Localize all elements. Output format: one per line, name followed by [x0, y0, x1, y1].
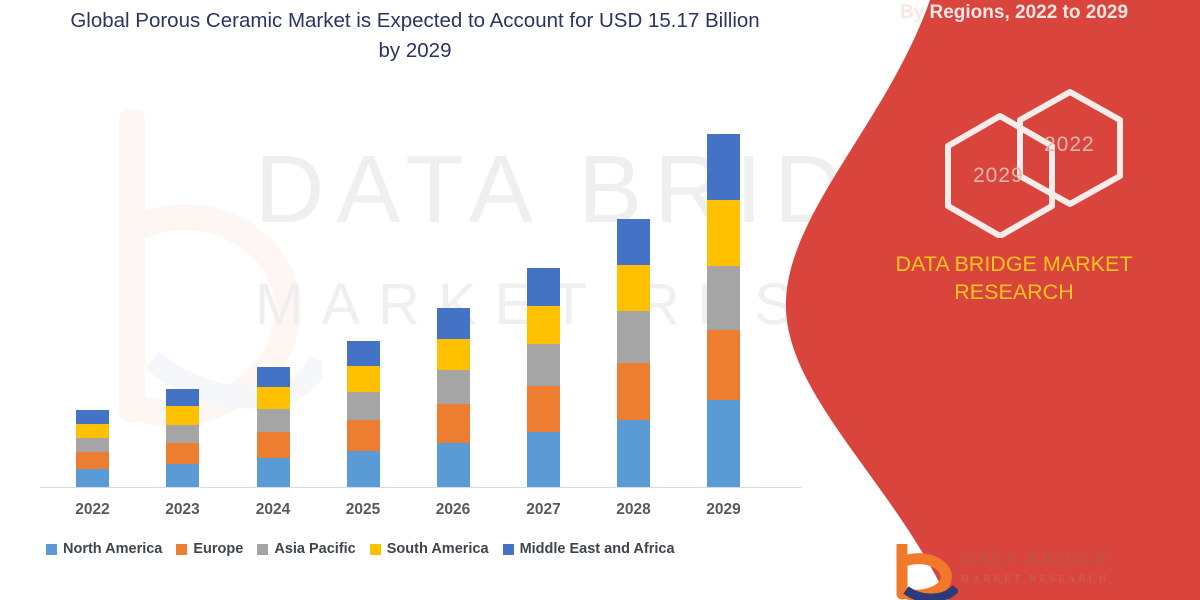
bar-segment-middle-east-and-africa: [347, 341, 380, 365]
red-panel-content: By Regions, 2022 to 2029 2022 2029 DATA …: [780, 0, 1200, 600]
bar-segment-middle-east-and-africa: [527, 268, 560, 305]
bar-segment-europe: [166, 443, 199, 464]
corner-logo-name: DATA BRIDGE: [960, 548, 1112, 571]
bar-segment-north-america: [527, 432, 560, 487]
brand-line-2: RESEARCH: [954, 280, 1073, 304]
bar-2027: [527, 268, 560, 487]
bar-segment-asia-pacific: [166, 425, 199, 443]
bar-segment-asia-pacific: [257, 409, 290, 432]
bar-2025: [347, 341, 380, 487]
legend-swatch-icon: [370, 544, 381, 555]
legend-swatch-icon: [503, 544, 514, 555]
legend-swatch-icon: [176, 544, 187, 555]
bar-2028: [617, 219, 650, 487]
hexagon-2022-label: 2022: [1044, 133, 1095, 157]
bar-2023: [166, 389, 199, 487]
bar-segment-middle-east-and-africa: [437, 308, 470, 339]
stacked-bar-chart: 20222023202420252026202720282029: [0, 0, 812, 600]
brand-name: DATA BRIDGE MARKET RESEARCH: [780, 250, 1200, 306]
legend-label: Asia Pacific: [274, 541, 355, 557]
infographic-root: DATA BRIDGE MARKET RESEARCH Global Porou…: [0, 0, 1200, 600]
legend-label: South America: [387, 541, 489, 557]
bar-segment-south-america: [707, 200, 740, 266]
x-axis-line: [40, 487, 802, 488]
legend-swatch-icon: [257, 544, 268, 555]
legend-item-south-america[interactable]: South America: [370, 541, 489, 557]
chart-legend: North AmericaEuropeAsia PacificSouth Ame…: [46, 541, 675, 557]
bar-segment-europe: [527, 386, 560, 433]
x-axis-label-2027: 2027: [499, 501, 589, 519]
legend-label: Europe: [193, 541, 243, 557]
bar-segment-north-america: [257, 458, 290, 487]
bar-segment-south-america: [166, 406, 199, 425]
bar-segment-south-america: [527, 306, 560, 344]
bar-segment-europe: [437, 404, 470, 442]
bar-segment-south-america: [347, 366, 380, 392]
legend-item-middle-east-and-africa[interactable]: Middle East and Africa: [503, 541, 675, 557]
bar-segment-south-america: [257, 387, 290, 409]
bar-segment-asia-pacific: [347, 392, 380, 420]
bar-segment-middle-east-and-africa: [76, 410, 109, 423]
x-axis-label-2025: 2025: [318, 501, 408, 519]
bar-segment-middle-east-and-africa: [257, 367, 290, 387]
x-axis-label-2022: 2022: [48, 501, 138, 519]
bar-2026: [437, 308, 470, 487]
hexagon-badges: 2022 2029: [940, 88, 1160, 238]
x-axis-label-2023: 2023: [138, 501, 228, 519]
bar-segment-south-america: [617, 265, 650, 312]
bar-segment-middle-east-and-africa: [617, 219, 650, 264]
corner-logo-subtitle: MARKET RESEARCH: [960, 574, 1110, 585]
x-axis-label-2024: 2024: [228, 501, 318, 519]
bar-2024: [257, 367, 290, 487]
bar-segment-north-america: [707, 400, 740, 487]
legend-item-north-america[interactable]: North America: [46, 541, 162, 557]
bar-segment-asia-pacific: [527, 344, 560, 386]
x-axis-label-2029: 2029: [679, 501, 769, 519]
legend-label: North America: [63, 541, 162, 557]
bar-2029: [707, 134, 740, 487]
bar-segment-asia-pacific: [617, 311, 650, 362]
bar-segment-europe: [347, 420, 380, 451]
bar-segment-asia-pacific: [76, 438, 109, 452]
brand-line-1: DATA BRIDGE MARKET: [896, 252, 1133, 276]
legend-item-asia-pacific[interactable]: Asia Pacific: [257, 541, 355, 557]
hexagon-2029-label: 2029: [973, 164, 1024, 188]
bar-segment-south-america: [437, 339, 470, 370]
bar-segment-europe: [617, 363, 650, 420]
bar-segment-north-america: [166, 464, 199, 487]
bar-segment-europe: [707, 330, 740, 400]
bar-segment-middle-east-and-africa: [707, 134, 740, 200]
bar-segment-asia-pacific: [707, 266, 740, 330]
x-axis-label-2028: 2028: [589, 501, 679, 519]
legend-swatch-icon: [46, 544, 57, 555]
bar-segment-middle-east-and-africa: [166, 389, 199, 406]
bar-segment-north-america: [437, 443, 470, 487]
corner-logo: DATA BRIDGE MARKET RESEARCH: [882, 540, 1182, 600]
legend-item-europe[interactable]: Europe: [176, 541, 243, 557]
x-axis-label-2026: 2026: [408, 501, 498, 519]
bar-segment-europe: [76, 452, 109, 469]
bar-segment-asia-pacific: [437, 370, 470, 404]
by-regions-heading: By Regions, 2022 to 2029: [780, 2, 1200, 24]
bar-segment-north-america: [347, 451, 380, 487]
bar-segment-europe: [257, 432, 290, 458]
bar-segment-south-america: [76, 424, 109, 438]
bar-2022: [76, 410, 109, 487]
bar-segment-north-america: [617, 420, 650, 487]
legend-label: Middle East and Africa: [520, 541, 675, 557]
bar-segment-north-america: [76, 469, 109, 487]
